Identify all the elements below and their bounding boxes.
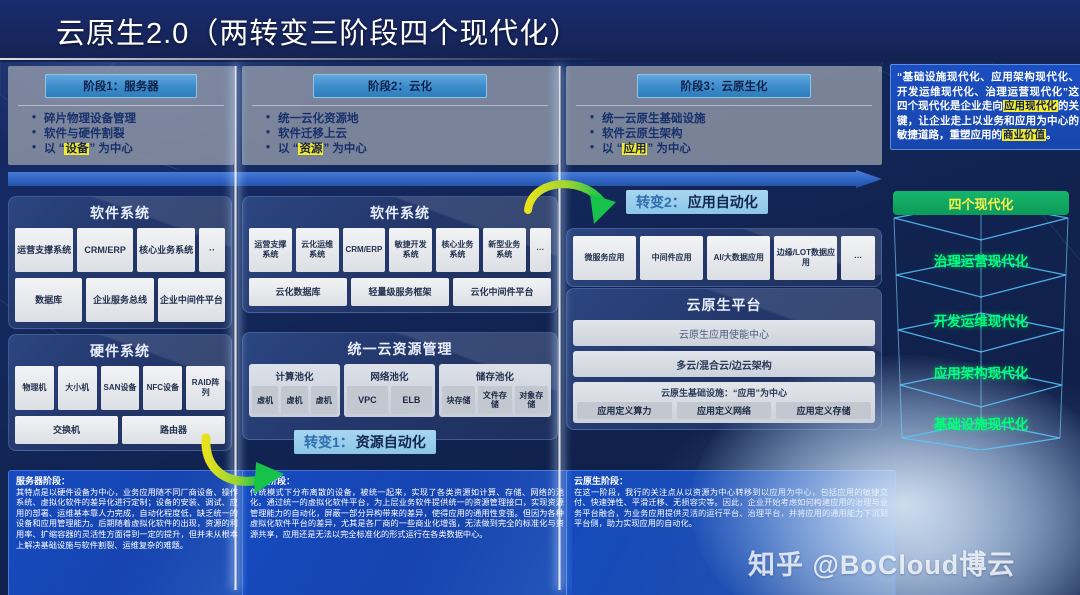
chip[interactable]: 虚机 xyxy=(252,386,278,414)
panel-title: 软件系统 xyxy=(9,197,231,228)
list-item: 以 “资源” 为中心 xyxy=(268,142,558,157)
panel-title: 统一云资源管理 xyxy=(243,333,557,364)
page-title: 云原生2.0（两转变三阶段四个现代化） xyxy=(56,10,579,52)
hardware-row-1: 物理机 大小机 SAN设备 NFC设备 RAID阵列 xyxy=(9,366,231,416)
column-separator-2 xyxy=(557,66,562,590)
transition-2-value: 应用自动化 xyxy=(688,192,758,212)
evolution-arrow xyxy=(8,170,882,188)
title-underline xyxy=(0,58,610,60)
cell[interactable]: RAID阵列 xyxy=(186,366,225,410)
modernization-label-1: 治理运营现代化 xyxy=(882,250,1080,270)
cell[interactable]: ·· xyxy=(199,228,225,272)
chip[interactable]: 对象存储 xyxy=(515,386,548,414)
description-title: 云原生阶段： xyxy=(574,476,888,487)
stage-2-bullets: 统一云化资源地 软件迁移上云 以 “资源” 为中心 xyxy=(242,112,558,157)
modernization-label-2: 开发运维现代化 xyxy=(882,310,1080,330)
stage-3-bullets: 统一云原生基础设施 软件云原生架构 以 “应用” 为中心 xyxy=(566,112,882,157)
list-item: 软件迁移上云 xyxy=(268,127,558,142)
slide-canvas: 云原生2.0（两转变三阶段四个现代化） 阶段1：服务器 碎片物理设备管理 软件与… xyxy=(0,0,1080,595)
transition-badge-2[interactable]: 转变2： 应用自动化 xyxy=(626,190,768,214)
panel-title: 硬件系统 xyxy=(9,335,231,366)
group-title: 储存池化 xyxy=(442,367,548,386)
transition-1-value: 资源自动化 xyxy=(356,432,426,452)
transition-arrow-2 xyxy=(498,172,628,244)
list-item: 软件与硬件割裂 xyxy=(34,127,234,142)
divider xyxy=(252,105,548,106)
cell[interactable]: 云化中间件平台 xyxy=(453,278,551,306)
column-separator-1 xyxy=(233,66,238,590)
list-item: 以 “设备” 为中心 xyxy=(34,142,234,157)
stage-1-tab[interactable]: 阶段1：服务器 xyxy=(45,74,197,98)
chip[interactable]: 应用定义存储 xyxy=(776,402,871,419)
list-item: 以 “应用” 为中心 xyxy=(592,142,882,157)
stage-2-header: 阶段2：云化 统一云化资源地 软件迁移上云 以 “资源” 为中心 xyxy=(242,66,558,165)
cell[interactable]: SAN设备 xyxy=(101,366,140,410)
stage-column-3: 阶段3：云原生化 统一云原生基础设施 软件云原生架构 以 “应用” 为中心 xyxy=(566,66,882,165)
transition-1-key: 转变1： xyxy=(304,432,354,452)
col1-software-panel: 软件系统 运营支撑系统 CRM/ERP 核心业务系统 ·· 数据库 企业服务总线… xyxy=(8,196,232,329)
stage-column-1: 阶段1：服务器 碎片物理设备管理 软件与硬件割裂 以 “设备” 为中心 xyxy=(8,66,234,165)
stage-2-tab[interactable]: 阶段2：云化 xyxy=(313,74,487,98)
cell[interactable]: 运营支撑系统 xyxy=(15,228,73,272)
software-row-1: 运营支撑系统 CRM/ERP 核心业务系统 ·· xyxy=(9,228,231,278)
cell[interactable]: 企业服务总线 xyxy=(86,278,153,322)
cloud-native-infrastructure-group: 云原生基础设施：“应用”为中心 应用定义算力 应用定义网络 应用定义存储 xyxy=(573,382,875,423)
enablement-center-bar[interactable]: 云原生应用使能中心 xyxy=(573,320,875,346)
transition-2-key: 转变2： xyxy=(636,192,686,212)
multicloud-bar[interactable]: 多云/混合云/边云架构 xyxy=(573,351,875,377)
cell[interactable]: 企业中间件平台 xyxy=(158,278,225,322)
group-items: 虚机 虚机 虚机 xyxy=(252,386,337,414)
resource-group-compute: 计算池化 虚机 虚机 虚机 xyxy=(249,364,340,417)
stage-1-bullets: 碎片物理设备管理 软件与硬件割裂 以 “设备” 为中心 xyxy=(8,112,234,157)
group-title: 网络池化 xyxy=(347,367,432,386)
list-item: 软件云原生架构 xyxy=(592,127,882,142)
four-modernizations-quote: “基础设施现代化、应用架构现代化、开发运维现代化、治理运营现代化”这四个现代化是… xyxy=(890,64,1080,150)
cell[interactable]: 边缘/LOT数据应用 xyxy=(774,236,837,280)
quote-highlight-2: 商业价值 xyxy=(1002,129,1046,141)
watermark: 知乎 @BoCloud博云 xyxy=(748,543,1015,582)
transition-badge-1[interactable]: 转变1： 资源自动化 xyxy=(294,430,436,454)
cell[interactable]: 云化数据库 xyxy=(249,278,347,306)
stage-3-tab[interactable]: 阶段3：云原生化 xyxy=(637,74,811,98)
cell[interactable]: CRM/ERP xyxy=(77,228,133,272)
cell[interactable]: 敏捷开发系统 xyxy=(389,228,432,272)
group-items: 块存储 文件存储 对象存储 xyxy=(442,386,548,414)
four-modernizations-badge[interactable]: 四个现代化 xyxy=(893,191,1069,215)
group-items: VPC ELB xyxy=(347,386,432,414)
col3-platform-panel: 云原生平台 云原生应用使能中心 多云/混合云/边云架构 云原生基础设施：“应用”… xyxy=(566,288,882,430)
stage-1-header: 阶段1：服务器 碎片物理设备管理 软件与硬件割裂 以 “设备” 为中心 xyxy=(8,66,234,165)
chip[interactable]: 文件存储 xyxy=(478,386,511,414)
chip[interactable]: 应用定义算力 xyxy=(577,402,672,419)
cell[interactable]: ··· xyxy=(841,236,875,280)
cell[interactable]: 运营支撑系统 xyxy=(249,228,292,272)
divider xyxy=(576,105,872,106)
cell[interactable]: 中间件应用 xyxy=(640,236,703,280)
resource-group-network: 网络池化 VPC ELB xyxy=(344,364,435,417)
cell[interactable]: 核心业务系统 xyxy=(137,228,195,272)
chip[interactable]: VPC xyxy=(347,386,388,414)
description-body: 在这一阶段，我行的关注点从以资源为中心转移到以应用为中心，包括应用的敏捷交付、快… xyxy=(574,488,888,529)
chip[interactable]: 块存储 xyxy=(442,386,475,414)
cell[interactable]: AI/大数据应用 xyxy=(707,236,770,280)
quote-highlight-1: 应用现代化 xyxy=(1003,100,1058,112)
cell[interactable]: CRM/ERP xyxy=(343,228,386,272)
chip[interactable]: 虚机 xyxy=(311,386,337,414)
cell[interactable]: 大小机 xyxy=(58,366,97,410)
cell[interactable]: 数据库 xyxy=(15,278,82,322)
chip[interactable]: 应用定义网络 xyxy=(677,402,772,419)
cell[interactable]: NFC设备 xyxy=(143,366,182,410)
cell[interactable]: 物理机 xyxy=(15,366,54,410)
group-title: 云原生基础设施：“应用”为中心 xyxy=(577,385,871,402)
software-row-2: 云化数据库 轻量级服务框架 云化中间件平台 xyxy=(243,278,557,312)
modernization-label-4: 基础设施现代化 xyxy=(882,413,1080,433)
stage-3-header: 阶段3：云原生化 统一云原生基础设施 软件云原生架构 以 “应用” 为中心 xyxy=(566,66,882,165)
resource-group-storage: 储存池化 块存储 文件存储 对象存储 xyxy=(439,364,551,417)
group-title: 计算池化 xyxy=(252,367,337,386)
stage-column-2: 阶段2：云化 统一云化资源地 软件迁移上云 以 “资源” 为中心 xyxy=(242,66,558,165)
cell[interactable]: 交换机 xyxy=(15,416,118,444)
divider xyxy=(18,105,224,106)
panel-title: 云原生平台 xyxy=(567,289,881,320)
transition-arrow-1 xyxy=(188,420,308,500)
chip[interactable]: 虚机 xyxy=(281,386,307,414)
list-item: 统一云化资源地 xyxy=(268,112,558,127)
list-item: 统一云原生基础设施 xyxy=(592,112,882,127)
cell[interactable]: 核心业务系统 xyxy=(436,228,479,272)
list-item: 碎片物理设备管理 xyxy=(34,112,234,127)
modernization-label-3: 应用架构现代化 xyxy=(882,362,1080,382)
group-items: 应用定义算力 应用定义网络 应用定义存储 xyxy=(577,402,871,419)
chip[interactable]: ELB xyxy=(391,386,432,414)
cell[interactable]: 轻量级服务框架 xyxy=(351,278,449,306)
software-row-2: 数据库 企业服务总线 企业中间件平台 xyxy=(9,278,231,328)
quote-part-3: 。 xyxy=(1046,129,1057,141)
cell[interactable]: 云化运维系统 xyxy=(296,228,339,272)
slide-header: 云原生2.0（两转变三阶段四个现代化） xyxy=(0,0,1080,62)
